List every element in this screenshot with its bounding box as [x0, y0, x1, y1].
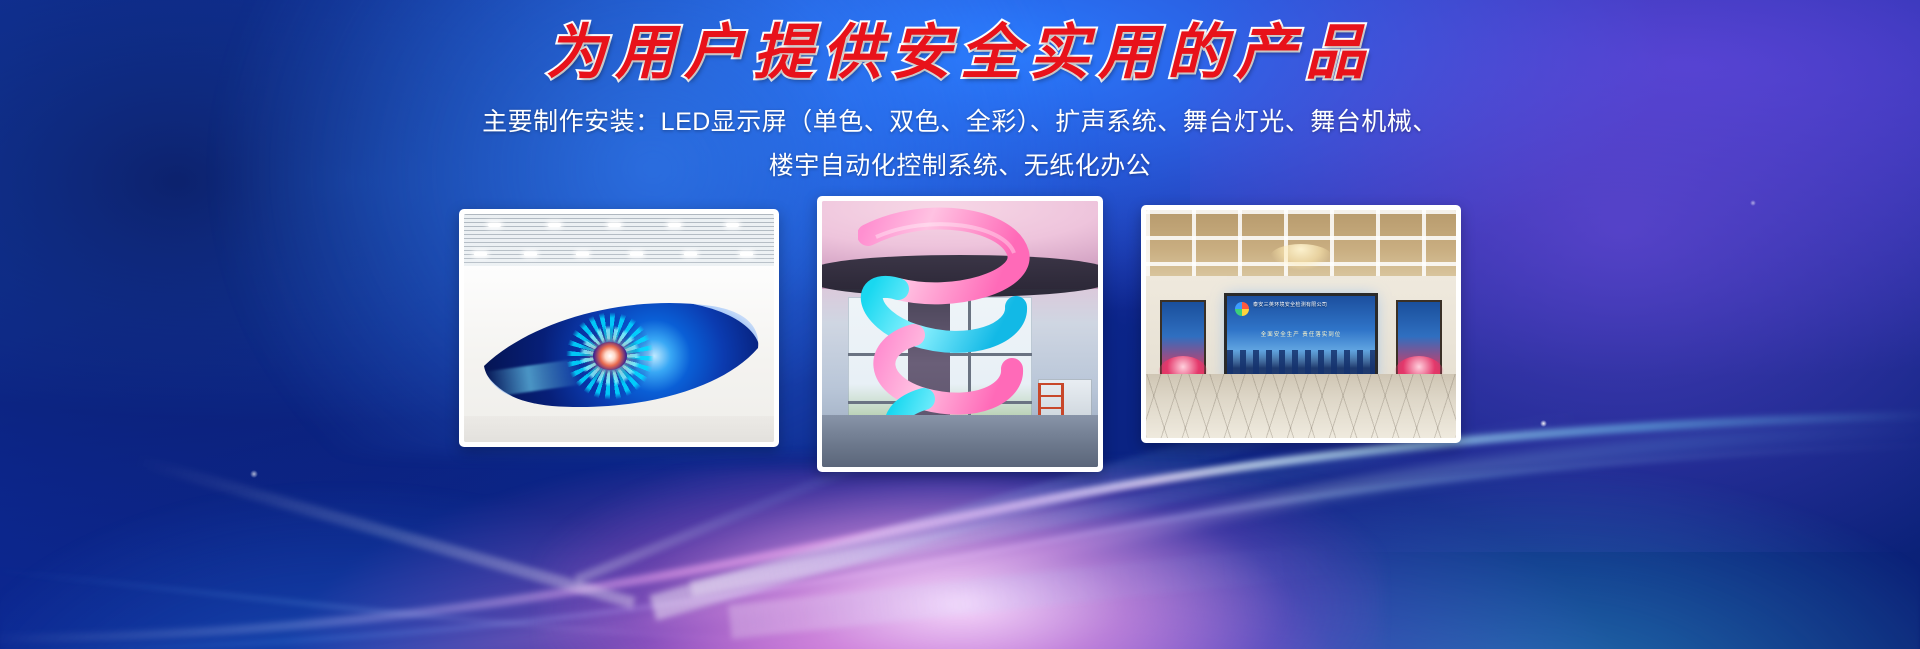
led-promo-banner: 为用户提供安全实用的产品 主要制作安装：LED显示屏（单色、双色、全彩）、扩声系…	[0, 0, 1920, 649]
photo-card-eye-shaped-led-display[interactable]	[459, 209, 779, 447]
subtitle-line-2: 楼宇自动化控制系统、无纸化办公	[0, 144, 1920, 188]
subtitle-line-1: 主要制作安装：LED显示屏（单色、双色、全彩）、扩声系统、舞台灯光、舞台机械、	[0, 100, 1920, 144]
chandelier-icon	[1270, 244, 1332, 270]
photo-card-conference-hall-led-display[interactable]: 泰安三英环境安全检测有限公司 全面安全生产 责任落实到位	[1141, 205, 1461, 443]
photo-eye-shaped-led-display	[464, 214, 774, 442]
floor	[822, 415, 1098, 467]
page-title: 为用户提供安全实用的产品	[0, 22, 1920, 85]
ceiling-slats	[464, 214, 774, 269]
photo-card-spiral-led-display[interactable]	[817, 196, 1103, 472]
marble-floor	[1146, 374, 1456, 438]
main-led-screen: 泰安三英环境安全检测有限公司 全面安全生产 责任落实到位	[1227, 296, 1375, 380]
screen-slogan-1: 全面安全生产 责任落实到位	[1227, 330, 1375, 338]
photo-conference-hall-led-display: 泰安三英环境安全检测有限公司 全面安全生产 责任落实到位	[1146, 210, 1456, 438]
floor	[464, 416, 774, 442]
background-bottom-light-core	[538, 469, 1383, 649]
screen-company-name: 泰安三英环境安全检测有限公司	[1253, 301, 1371, 309]
subtitle-block: 主要制作安装：LED显示屏（单色、双色、全彩）、扩声系统、舞台灯光、舞台机械、 …	[0, 100, 1920, 188]
company-logo-icon	[1235, 302, 1249, 316]
photo-gallery: 泰安三英环境安全检测有限公司 全面安全生产 责任落实到位	[0, 196, 1920, 486]
photo-spiral-led-display	[822, 201, 1098, 467]
